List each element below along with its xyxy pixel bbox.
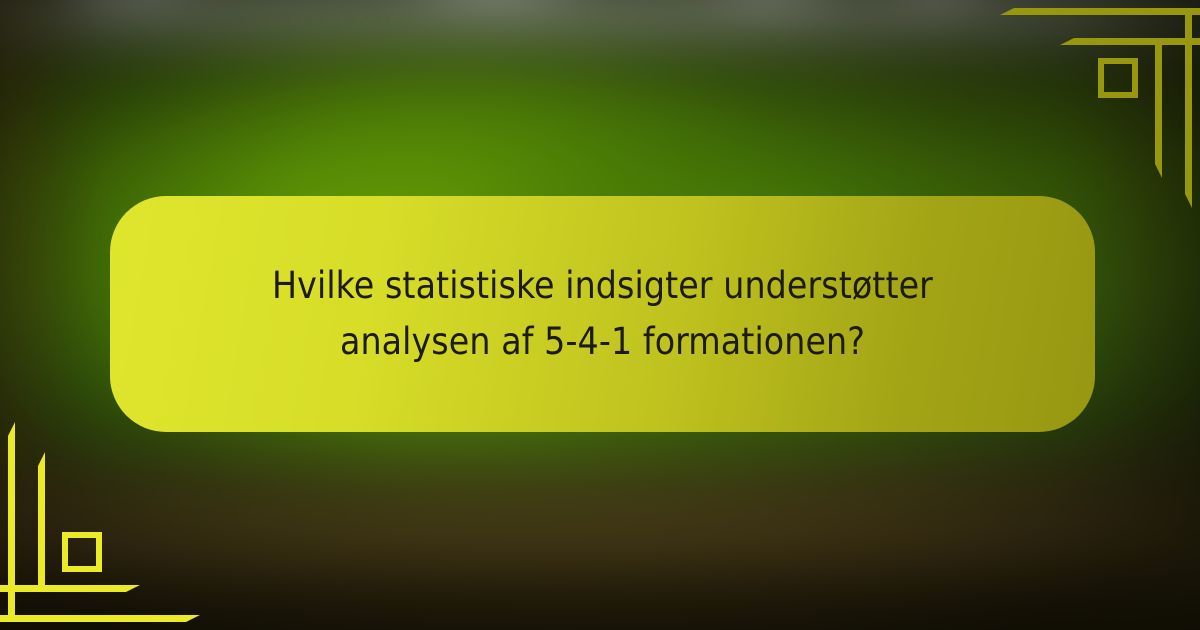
ornament-bar-horizontal-outer — [1000, 8, 1200, 15]
question-line-1: Hvilke statistiske indsigter understøtte… — [272, 264, 933, 307]
ornament-bar-horizontal-outer — [0, 615, 200, 622]
ornament-bar-horizontal-inner — [1060, 38, 1200, 45]
ornament-bar-vertical-outer — [1185, 8, 1192, 208]
corner-ornament-bottom-left — [0, 400, 260, 630]
ornament-square-motif — [62, 532, 102, 572]
ornament-bar-horizontal-inner — [0, 585, 140, 592]
ornament-bar-vertical-inner — [1155, 38, 1162, 178]
ornament-bar-vertical-outer — [8, 422, 15, 622]
question-line-2: analysen af 5-4-1 formationen? — [340, 320, 865, 363]
question-text: Hvilke statistiske indsigter understøtte… — [272, 258, 933, 370]
social-card-canvas: Hvilke statistiske indsigter understøtte… — [0, 0, 1200, 630]
ornament-square-motif — [1098, 58, 1138, 98]
ornament-bar-vertical-inner — [38, 452, 45, 592]
question-card: Hvilke statistiske indsigter understøtte… — [110, 196, 1095, 432]
